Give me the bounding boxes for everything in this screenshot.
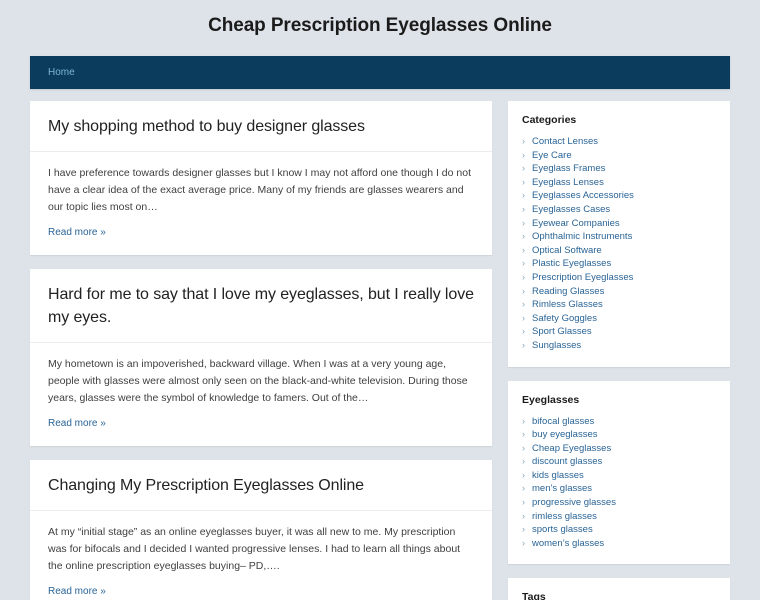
categories-list: ›Contact Lenses ›Eye Care ›Eyeglass Fram… [522,135,716,353]
chevron-right-icon: › [522,230,532,244]
read-more-link[interactable]: Read more » [48,586,106,597]
list-item[interactable]: ›Sunglasses [522,339,716,353]
post-excerpt: My hometown is an impoverished, backward… [48,356,474,407]
post-body: I have preference towards designer glass… [30,152,492,255]
post-title[interactable]: My shopping method to buy designer glass… [48,115,474,138]
eyeglasses-link[interactable]: buy eyeglasses [532,428,597,442]
eyeglasses-link[interactable]: discount glasses [532,455,602,469]
category-link[interactable]: Optical Software [532,244,602,258]
chevron-right-icon: › [522,189,532,203]
chevron-right-icon: › [522,339,532,353]
chevron-right-icon: › [522,312,532,326]
post-body: At my “initial stage” as an online eyegl… [30,511,492,600]
chevron-right-icon: › [522,469,532,483]
category-link[interactable]: Sport Glasses [532,325,592,339]
chevron-right-icon: › [522,428,532,442]
list-item[interactable]: ›Eye Care [522,149,716,163]
list-item[interactable]: ›Ophthalmic Instruments [522,230,716,244]
post-title[interactable]: Hard for me to say that I love my eyegla… [48,283,474,329]
post-header: Hard for me to say that I love my eyegla… [30,269,492,343]
chevron-right-icon: › [522,257,532,271]
chevron-right-icon: › [522,415,532,429]
widget-title-categories: Categories [522,114,716,126]
list-item[interactable]: ›bifocal glasses [522,415,716,429]
nav-list: Home [30,56,730,89]
widget-tags: Tags Australia Eyeglasses Austria Eyegla… [508,578,730,600]
chevron-right-icon: › [522,523,532,537]
widget-eyeglasses: Eyeglasses ›bifocal glasses ›buy eyeglas… [508,381,730,565]
chevron-right-icon: › [522,325,532,339]
read-more-link[interactable]: Read more » [48,227,106,238]
category-link[interactable]: Eyeglass Lenses [532,176,604,190]
list-item[interactable]: ›Reading Glasses [522,285,716,299]
category-link[interactable]: Eyeglass Frames [532,162,605,176]
chevron-right-icon: › [522,285,532,299]
chevron-right-icon: › [522,217,532,231]
list-item[interactable]: ›rimless glasses [522,510,716,524]
category-link[interactable]: Plastic Eyeglasses [532,257,611,271]
chevron-right-icon: › [522,176,532,190]
list-item[interactable]: ›buy eyeglasses [522,428,716,442]
site-title: Cheap Prescription Eyeglasses Online [0,14,760,38]
chevron-right-icon: › [522,482,532,496]
post-header: Changing My Prescription Eyeglasses Onli… [30,460,492,511]
chevron-right-icon: › [522,510,532,524]
chevron-right-icon: › [522,244,532,258]
eyeglasses-list: ›bifocal glasses ›buy eyeglasses ›Cheap … [522,415,716,551]
eyeglasses-link[interactable]: women’s glasses [532,537,604,551]
chevron-right-icon: › [522,496,532,510]
category-link[interactable]: Ophthalmic Instruments [532,230,632,244]
chevron-right-icon: › [522,455,532,469]
list-item[interactable]: ›progressive glasses [522,496,716,510]
post-card: Changing My Prescription Eyeglasses Onli… [30,460,492,600]
list-item[interactable]: ›Plastic Eyeglasses [522,257,716,271]
main-layout: My shopping method to buy designer glass… [30,101,730,600]
list-item[interactable]: ›Eyeglasses Accessories [522,189,716,203]
category-link[interactable]: Eyeglasses Accessories [532,189,634,203]
chevron-right-icon: › [522,298,532,312]
list-item[interactable]: ›Eyeglass Frames [522,162,716,176]
eyeglasses-link[interactable]: kids glasses [532,469,584,483]
list-item[interactable]: ›sports glasses [522,523,716,537]
category-link[interactable]: Safety Goggles [532,312,597,326]
list-item[interactable]: ›Optical Software [522,244,716,258]
primary-navigation: Home [30,56,730,89]
widget-categories: Categories ›Contact Lenses ›Eye Care ›Ey… [508,101,730,367]
category-link[interactable]: Eyeglasses Cases [532,203,610,217]
list-item[interactable]: ›women’s glasses [522,537,716,551]
post-header: My shopping method to buy designer glass… [30,101,492,152]
eyeglasses-link[interactable]: rimless glasses [532,510,597,524]
list-item[interactable]: ›discount glasses [522,455,716,469]
post-title[interactable]: Changing My Prescription Eyeglasses Onli… [48,474,474,497]
list-item[interactable]: ›Eyewear Companies [522,217,716,231]
list-item[interactable]: ›Cheap Eyeglasses [522,442,716,456]
list-item[interactable]: ›Contact Lenses [522,135,716,149]
widget-title-eyeglasses: Eyeglasses [522,394,716,406]
chevron-right-icon: › [522,149,532,163]
category-link[interactable]: Contact Lenses [532,135,598,149]
eyeglasses-link[interactable]: men’s glasses [532,482,592,496]
chevron-right-icon: › [522,271,532,285]
list-item[interactable]: ›Rimless Glasses [522,298,716,312]
post-card: Hard for me to say that I love my eyegla… [30,269,492,446]
post-excerpt: At my “initial stage” as an online eyegl… [48,524,474,575]
chevron-right-icon: › [522,162,532,176]
chevron-right-icon: › [522,203,532,217]
post-excerpt: I have preference towards designer glass… [48,165,474,216]
list-item[interactable]: ›men’s glasses [522,482,716,496]
post-card: My shopping method to buy designer glass… [30,101,492,255]
list-item[interactable]: ›kids glasses [522,469,716,483]
post-body: My hometown is an impoverished, backward… [30,343,492,446]
eyeglasses-link[interactable]: bifocal glasses [532,415,594,429]
list-item[interactable]: ›Safety Goggles [522,312,716,326]
list-item[interactable]: ›Eyeglasses Cases [522,203,716,217]
list-item[interactable]: ›Prescription Eyeglasses [522,271,716,285]
eyeglasses-link[interactable]: Cheap Eyeglasses [532,442,611,456]
sidebar: Categories ›Contact Lenses ›Eye Care ›Ey… [508,101,730,600]
nav-link-home[interactable]: Home [40,56,83,89]
nav-item-home[interactable]: Home [40,56,83,89]
category-link[interactable]: Rimless Glasses [532,298,603,312]
chevron-right-icon: › [522,442,532,456]
category-link[interactable]: Eyewear Companies [532,217,620,231]
read-more-link[interactable]: Read more » [48,418,106,429]
category-link[interactable]: Reading Glasses [532,285,604,299]
site-header: Cheap Prescription Eyeglasses Online [0,0,760,50]
eyeglasses-link[interactable]: progressive glasses [532,496,616,510]
category-link[interactable]: Sunglasses [532,339,581,353]
post-list: My shopping method to buy designer glass… [30,101,492,600]
list-item[interactable]: ›Eyeglass Lenses [522,176,716,190]
chevron-right-icon: › [522,537,532,551]
widget-title-tags: Tags [522,591,716,600]
eyeglasses-link[interactable]: sports glasses [532,523,593,537]
page-root: Cheap Prescription Eyeglasses Online Hom… [0,0,760,600]
category-link[interactable]: Prescription Eyeglasses [532,271,633,285]
chevron-right-icon: › [522,135,532,149]
list-item[interactable]: ›Sport Glasses [522,325,716,339]
category-link[interactable]: Eye Care [532,149,572,163]
